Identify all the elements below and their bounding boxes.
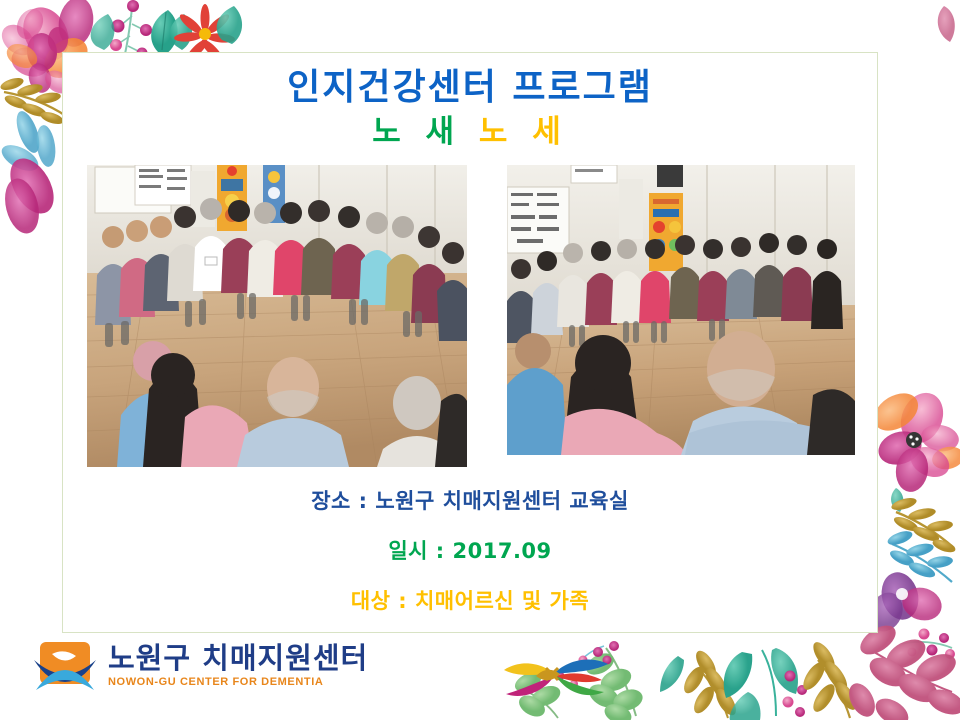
info-block: 장소 : 노원구 치매지원센터 교육실 일시 : 2017.09 대상 : 치매… — [63, 485, 877, 635]
poster-canvas: 인지건강센터 프로그램 노 새 노 세 — [0, 0, 960, 720]
page-title: 인지건강센터 프로그램 — [63, 65, 877, 110]
info-target: 대상 : 치매어르신 및 가족 — [63, 585, 877, 615]
brand-lockup: 노원구 치매지원센터 NOWON-GU CENTER FOR DEMENTIA — [34, 640, 368, 692]
brand-name-ko: 노원구 치매지원센터 — [108, 644, 368, 673]
nowon-gu-district-emblem-icon — [500, 648, 612, 704]
page-subtitle: 노 새 노 세 — [63, 112, 877, 152]
info-date: 일시 : 2017.09 — [63, 535, 877, 565]
nowon-dementia-center-logo-icon — [34, 640, 96, 692]
photo-left — [87, 165, 467, 467]
title-block: 인지건강센터 프로그램 노 새 노 세 — [63, 65, 877, 152]
subtitle-part-green: 노 새 — [372, 114, 461, 150]
info-place: 장소 : 노원구 치매지원센터 교육실 — [63, 485, 877, 515]
photo-right — [507, 165, 855, 455]
photo-row — [87, 165, 855, 415]
brand-text: 노원구 치매지원센터 NOWON-GU CENTER FOR DEMENTIA — [108, 644, 368, 688]
content-card: 인지건강센터 프로그램 노 새 노 세 — [62, 52, 878, 633]
footer: 노원구 치매지원센터 NOWON-GU CENTER FOR DEMENTIA — [0, 634, 960, 720]
subtitle-part-amber: 노 세 — [479, 114, 568, 150]
brand-name-en: NOWON-GU CENTER FOR DEMENTIA — [108, 677, 368, 688]
